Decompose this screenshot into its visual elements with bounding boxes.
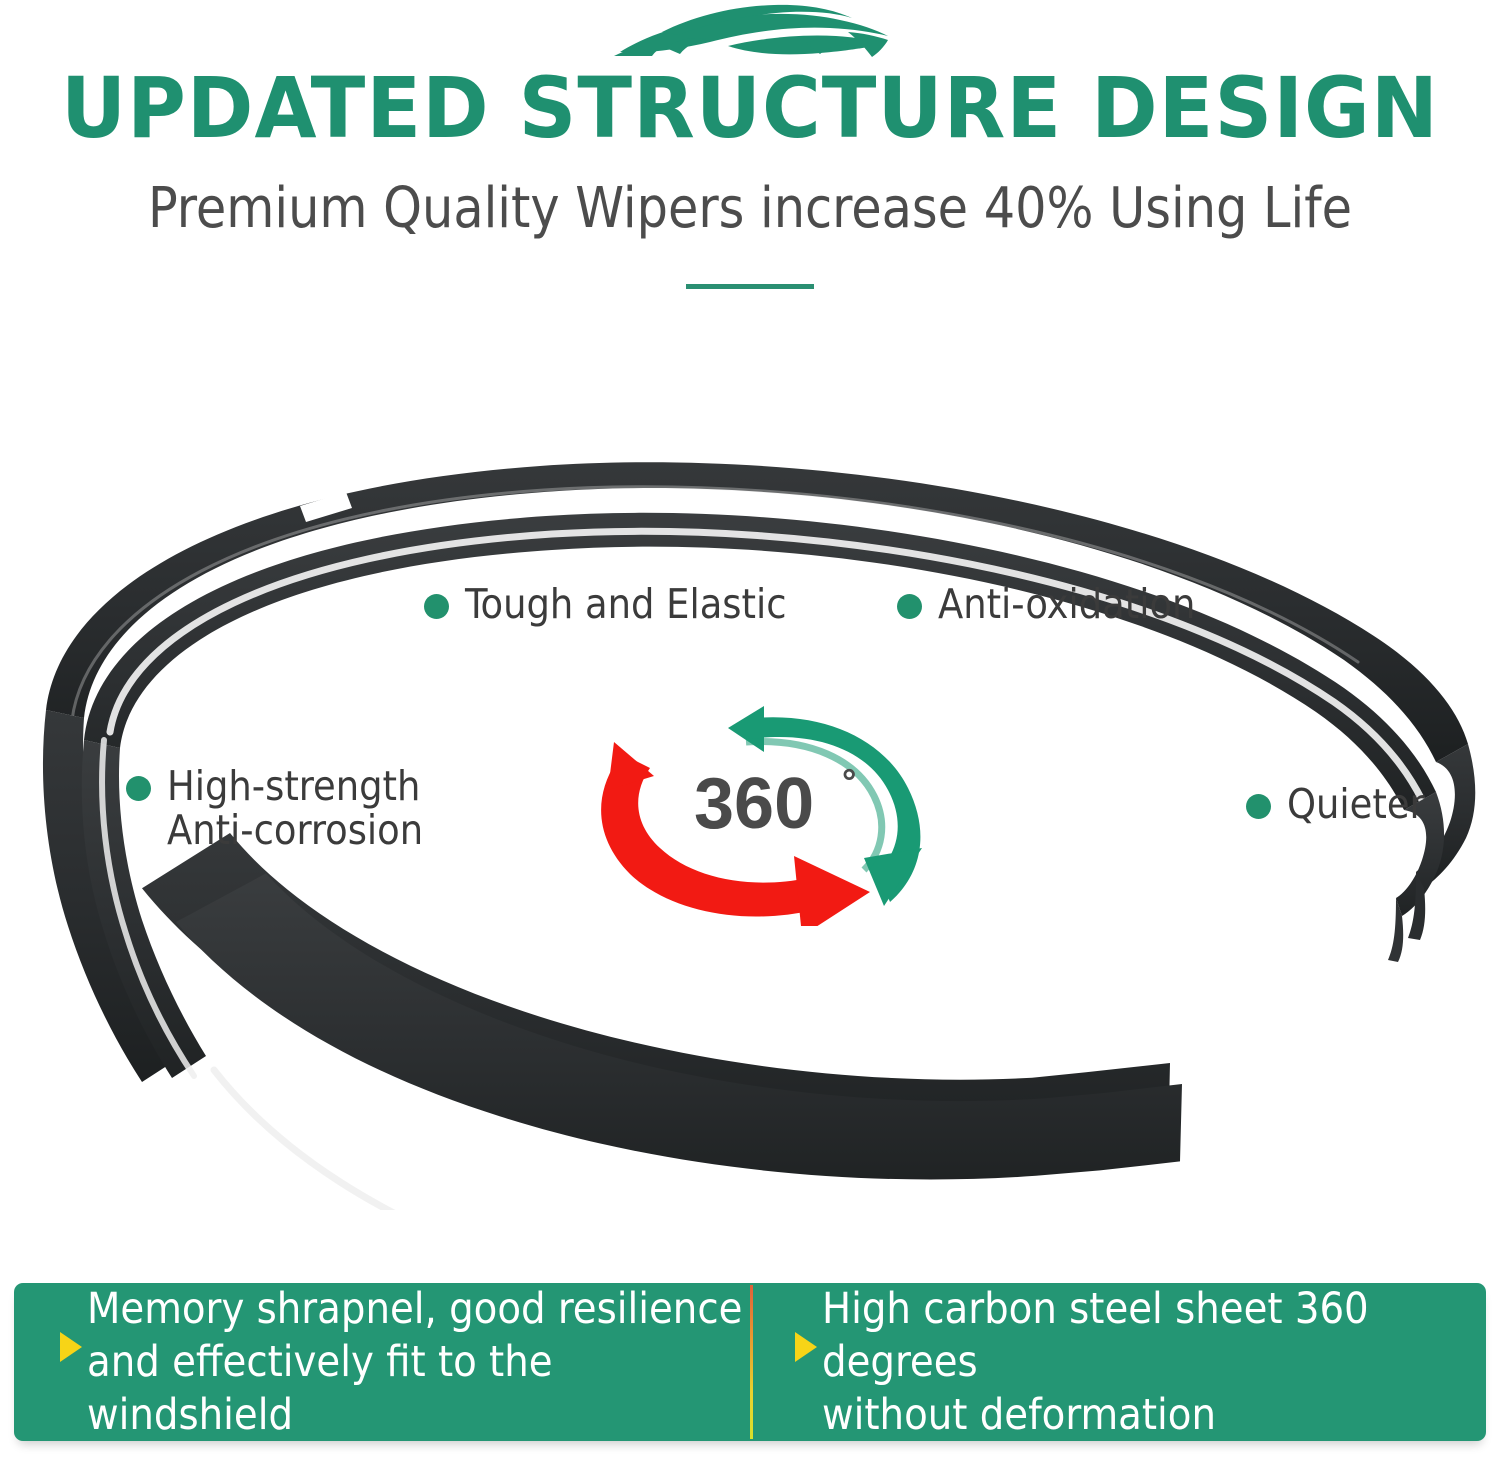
callout-label: High-strength Anti-corrosion bbox=[167, 764, 423, 852]
triangle-right-icon bbox=[795, 1332, 817, 1362]
bullet-dot-icon bbox=[1246, 794, 1271, 819]
360-degree-rotation-badge: 360 ° bbox=[578, 696, 958, 926]
product-feature-infographic: UPDATED STRUCTURE DESIGN Premium Quality… bbox=[0, 0, 1500, 1475]
bullet-dot-icon bbox=[424, 594, 449, 619]
callout-tough-and-elastic: Tough and Elastic bbox=[424, 582, 787, 626]
banner-text: High carbon steel sheet 360 degrees with… bbox=[822, 1283, 1486, 1441]
bullet-dot-icon bbox=[126, 776, 151, 801]
callout-quieter: Quieter bbox=[1246, 782, 1425, 826]
callout-label: Quieter bbox=[1287, 782, 1425, 826]
bullet-dot-icon bbox=[897, 594, 922, 619]
callout-anti-oxidation: Anti-oxidation bbox=[897, 582, 1195, 626]
car-silhouette-icon bbox=[0, 2, 1500, 64]
badge-value: 360 bbox=[694, 764, 814, 844]
page-title: UPDATED STRUCTURE DESIGN bbox=[0, 62, 1500, 154]
triangle-right-icon bbox=[60, 1332, 82, 1362]
badge-degree-symbol: ° bbox=[842, 761, 856, 802]
callout-label: Tough and Elastic bbox=[465, 582, 787, 626]
banner-text: Memory shrapnel, good resilience and eff… bbox=[87, 1283, 751, 1441]
page-subtitle: Premium Quality Wipers increase 40% Usin… bbox=[15, 176, 1485, 242]
callout-label: Anti-oxidation bbox=[938, 582, 1195, 626]
banner-panel-memory-shrapnel: Memory shrapnel, good resilience and eff… bbox=[14, 1283, 751, 1441]
banner-divider bbox=[750, 1285, 753, 1439]
callout-high-strength-anti-corrosion: High-strength Anti-corrosion bbox=[126, 764, 423, 852]
title-divider-rule bbox=[686, 284, 814, 289]
banner-panel-high-carbon-steel: High carbon steel sheet 360 degrees with… bbox=[751, 1283, 1486, 1441]
